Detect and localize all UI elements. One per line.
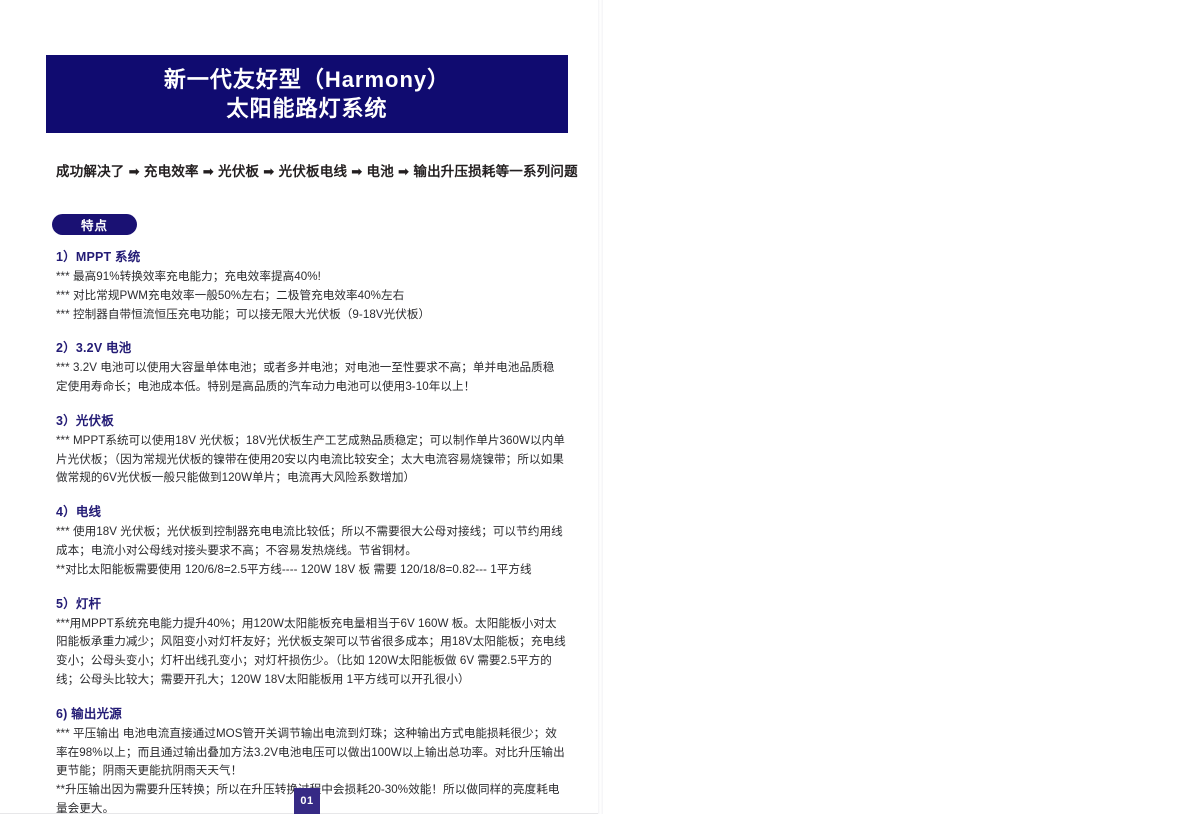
features-pill-badge: 特点 [52, 214, 137, 235]
feature-heading: 5）灯杆 [56, 593, 566, 612]
brochure-spread: 新一代友好型（Harmony） 太阳能路灯系统 成功解决了 ➡ 充电效率 ➡ 光… [0, 0, 1200, 814]
feature-item-3: 3）光伏板 *** MPPT系统可以使用18V 光伏板；18V光伏板生产工艺成熟… [56, 410, 566, 488]
page-number-left: 01 [294, 788, 320, 814]
feature-line: *** 对比常规PWM充电效率一般50%左右；二极管充电效率40%左右 [56, 287, 566, 306]
feature-line: *** 控制器自带恒流恒压充电功能；可以接无限大光伏板（9-18V光伏板） [56, 306, 566, 325]
solved-problems-line: 成功解决了 ➡ 充电效率 ➡ 光伏板 ➡ 光伏板电线 ➡ 电池 ➡ 输出升压损耗… [56, 160, 566, 180]
feature-heading: 6) 输出光源 [56, 703, 566, 722]
features-list: 1）MPPT 系统 *** 最高91%转换效率充电能力；充电效率提高40%! *… [56, 246, 566, 814]
feature-line: *** 3.2V 电池可以使用大容量单体电池；或者多并电池；对电池一至性要求不高… [56, 359, 566, 397]
title-line-2: 太阳能路灯系统 [226, 95, 387, 123]
feature-item-2: 2）3.2V 电池 *** 3.2V 电池可以使用大容量单体电池；或者多并电池；… [56, 337, 566, 397]
page-right: 好 耐 丝 HAO NAI SI MPPT 太阳 [600, 0, 1200, 814]
feature-line: *** 使用18V 光伏板；光伏板到控制器充电电流比较低；所以不需要很大公母对接… [56, 523, 566, 561]
feature-line: *** 最高91%转换效率充电能力；充电效率提高40%! [56, 268, 566, 287]
page-left: 新一代友好型（Harmony） 太阳能路灯系统 成功解决了 ➡ 充电效率 ➡ 光… [0, 0, 600, 814]
left-title-banner: 新一代友好型（Harmony） 太阳能路灯系统 [46, 55, 568, 133]
feature-item-4: 4）电线 *** 使用18V 光伏板；光伏板到控制器充电电流比较低；所以不需要很… [56, 501, 566, 579]
feature-line: *** MPPT系统可以使用18V 光伏板；18V光伏板生产工艺成熟品质稳定；可… [56, 432, 566, 488]
feature-line: ***用MPPT系统充电能力提升40%；用120W太阳能板充电量相当于6V 16… [56, 615, 566, 690]
feature-line: **对比太阳能板需要使用 120/6/8=2.5平方线---- 120W 18V… [56, 561, 566, 580]
feature-heading: 4）电线 [56, 501, 566, 520]
feature-heading: 2）3.2V 电池 [56, 337, 566, 356]
feature-heading: 3）光伏板 [56, 410, 566, 429]
feature-item-5: 5）灯杆 ***用MPPT系统充电能力提升40%；用120W太阳能板充电量相当于… [56, 593, 566, 690]
feature-heading: 1）MPPT 系统 [56, 246, 566, 265]
feature-line: *** 平压输出 电池电流直接通过MOS管开关调节输出电流到灯珠；这种输出方式电… [56, 725, 566, 781]
feature-item-1: 1）MPPT 系统 *** 最高91%转换效率充电能力；充电效率提高40%! *… [56, 246, 566, 324]
title-line-1: 新一代友好型（Harmony） [164, 66, 450, 94]
